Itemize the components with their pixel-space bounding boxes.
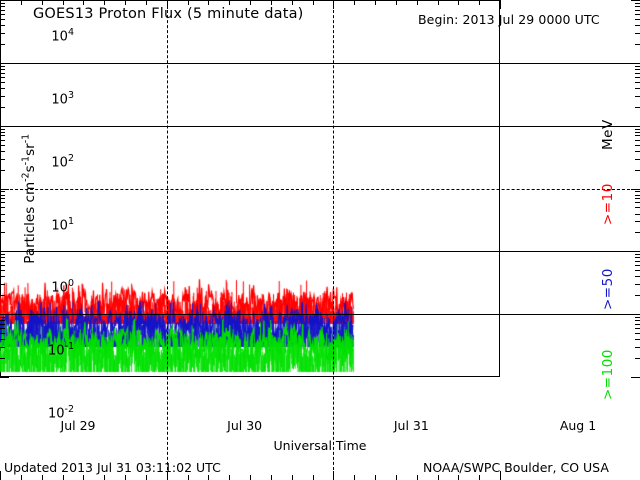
y-axis-minor-tick xyxy=(0,140,5,141)
y-axis-minor-tick xyxy=(0,221,5,222)
x-axis-minor-tick xyxy=(125,0,126,5)
gridline-vertical-day xyxy=(333,0,334,377)
y-axis-minor-tick xyxy=(0,195,5,196)
x-axis-major-tick xyxy=(333,0,334,9)
plot-area xyxy=(0,0,500,377)
y-axis-minor-tick xyxy=(0,276,5,277)
x-axis-minor-tick xyxy=(63,0,64,5)
y-axis-minor-tick xyxy=(0,82,5,83)
y-axis-minor-tick xyxy=(0,132,5,133)
x-axis-minor-tick xyxy=(271,0,272,5)
y-axis-minor-tick xyxy=(0,151,5,152)
y-axis-minor-tick xyxy=(0,270,5,271)
x-axis-title: Universal Time xyxy=(0,438,640,453)
y-axis-minor-tick xyxy=(0,295,5,296)
y-axis-minor-tick xyxy=(0,135,5,136)
x-axis-minor-tick xyxy=(375,0,376,5)
x-axis-minor-tick xyxy=(396,0,397,5)
x-axis-minor-tick xyxy=(104,0,105,5)
y-axis-tick-label: 100 xyxy=(51,279,74,294)
legend-item-label: >=100 xyxy=(600,349,616,400)
y-axis-tick-label: 104 xyxy=(51,28,74,43)
x-axis-minor-tick xyxy=(146,0,147,5)
y-axis-major-tick xyxy=(0,0,9,1)
y-axis-minor-tick xyxy=(0,265,5,266)
y-axis-minor-tick xyxy=(0,170,5,171)
y-axis-minor-tick xyxy=(0,25,5,26)
y-axis-minor-tick xyxy=(0,88,5,89)
x-axis-minor-tick xyxy=(42,0,43,5)
y-axis-minor-tick xyxy=(0,317,5,318)
y-axis-minor-tick xyxy=(0,284,5,285)
plot-inner xyxy=(0,0,500,377)
y-axis-minor-tick xyxy=(0,19,5,20)
legend-unit-label: MeV xyxy=(600,119,616,150)
y-axis-minor-tick xyxy=(0,129,5,130)
y-axis-minor-tick xyxy=(0,320,5,321)
legend-item-label: >=10 xyxy=(600,183,616,225)
y-axis-minor-tick xyxy=(0,207,5,208)
gridline-vertical-day xyxy=(167,0,168,377)
gridline-horizontal xyxy=(0,251,500,252)
y-axis-minor-tick xyxy=(0,232,5,233)
y-axis-minor-tick xyxy=(0,66,5,67)
y-axis-tick-label: 103 xyxy=(51,91,74,106)
x-axis-tick-label: Aug 1 xyxy=(533,418,623,433)
y-axis-minor-tick xyxy=(0,10,5,11)
x-axis-minor-tick xyxy=(438,0,439,5)
y-axis-minor-tick xyxy=(0,159,5,160)
y-axis-minor-tick xyxy=(0,328,5,329)
x-axis-minor-tick xyxy=(83,0,84,5)
y-axis-minor-tick xyxy=(0,44,5,45)
updated-timestamp: Updated 2013 Jul 31 03:11:02 UTC xyxy=(4,460,221,475)
x-axis-major-tick xyxy=(0,0,1,9)
x-axis-minor-tick xyxy=(417,0,418,5)
x-axis-minor-tick xyxy=(313,0,314,5)
gridline-horizontal-threshold xyxy=(0,189,500,190)
x-axis-minor-tick xyxy=(479,0,480,5)
y-axis-minor-tick xyxy=(0,145,5,146)
x-axis-minor-tick xyxy=(229,0,230,5)
x-axis-tick-label: Jul 31 xyxy=(366,418,456,433)
y-axis-major-tick xyxy=(0,189,9,190)
gridline-horizontal xyxy=(0,63,500,64)
y-axis-minor-tick xyxy=(0,324,5,325)
y-axis-minor-tick xyxy=(0,333,5,334)
y-axis-major-tick xyxy=(0,63,9,64)
gridline-horizontal xyxy=(0,314,500,315)
x-axis-minor-tick xyxy=(208,0,209,5)
y-axis-tick-label: 10-1 xyxy=(48,342,74,357)
y-axis-minor-tick xyxy=(0,69,5,70)
y-axis-minor-tick xyxy=(0,33,5,34)
x-axis-major-tick xyxy=(167,0,168,9)
y-axis-major-tick xyxy=(0,314,9,315)
y-axis-tick-label: 101 xyxy=(51,217,74,232)
y-axis-minor-tick xyxy=(0,73,5,74)
x-axis-minor-tick xyxy=(458,0,459,5)
gridline-horizontal xyxy=(0,126,500,127)
y-axis-minor-tick xyxy=(0,257,5,258)
y-axis-major-tick xyxy=(0,251,9,252)
y-axis-minor-tick xyxy=(0,202,5,203)
y-axis-minor-tick xyxy=(0,347,5,348)
y-axis-minor-tick xyxy=(0,77,5,78)
y-axis-minor-tick xyxy=(0,358,5,359)
y-axis-minor-tick xyxy=(0,198,5,199)
y-axis-minor-tick xyxy=(0,107,5,108)
y-axis-minor-tick xyxy=(0,261,5,262)
x-axis-minor-tick xyxy=(292,0,293,5)
legend-item-label: >=50 xyxy=(600,268,616,310)
x-axis-minor-tick xyxy=(354,0,355,5)
x-axis-tick-label: Jul 30 xyxy=(200,418,290,433)
provider-label: NOAA/SWPC Boulder, CO USA xyxy=(423,460,609,475)
y-axis-minor-tick xyxy=(0,14,5,15)
x-axis-minor-tick xyxy=(250,0,251,5)
y-axis-minor-tick xyxy=(0,214,5,215)
x-axis-minor-tick xyxy=(21,0,22,5)
x-axis-tick-label: Jul 29 xyxy=(33,418,123,433)
y-axis-tick-label: 102 xyxy=(51,154,74,169)
y-axis-minor-tick xyxy=(0,339,5,340)
y-axis-minor-tick xyxy=(0,254,5,255)
y-axis-minor-tick xyxy=(0,96,5,97)
y-axis-major-tick xyxy=(0,126,9,127)
x-axis-minor-tick xyxy=(188,0,189,5)
y-axis-minor-tick xyxy=(0,191,5,192)
